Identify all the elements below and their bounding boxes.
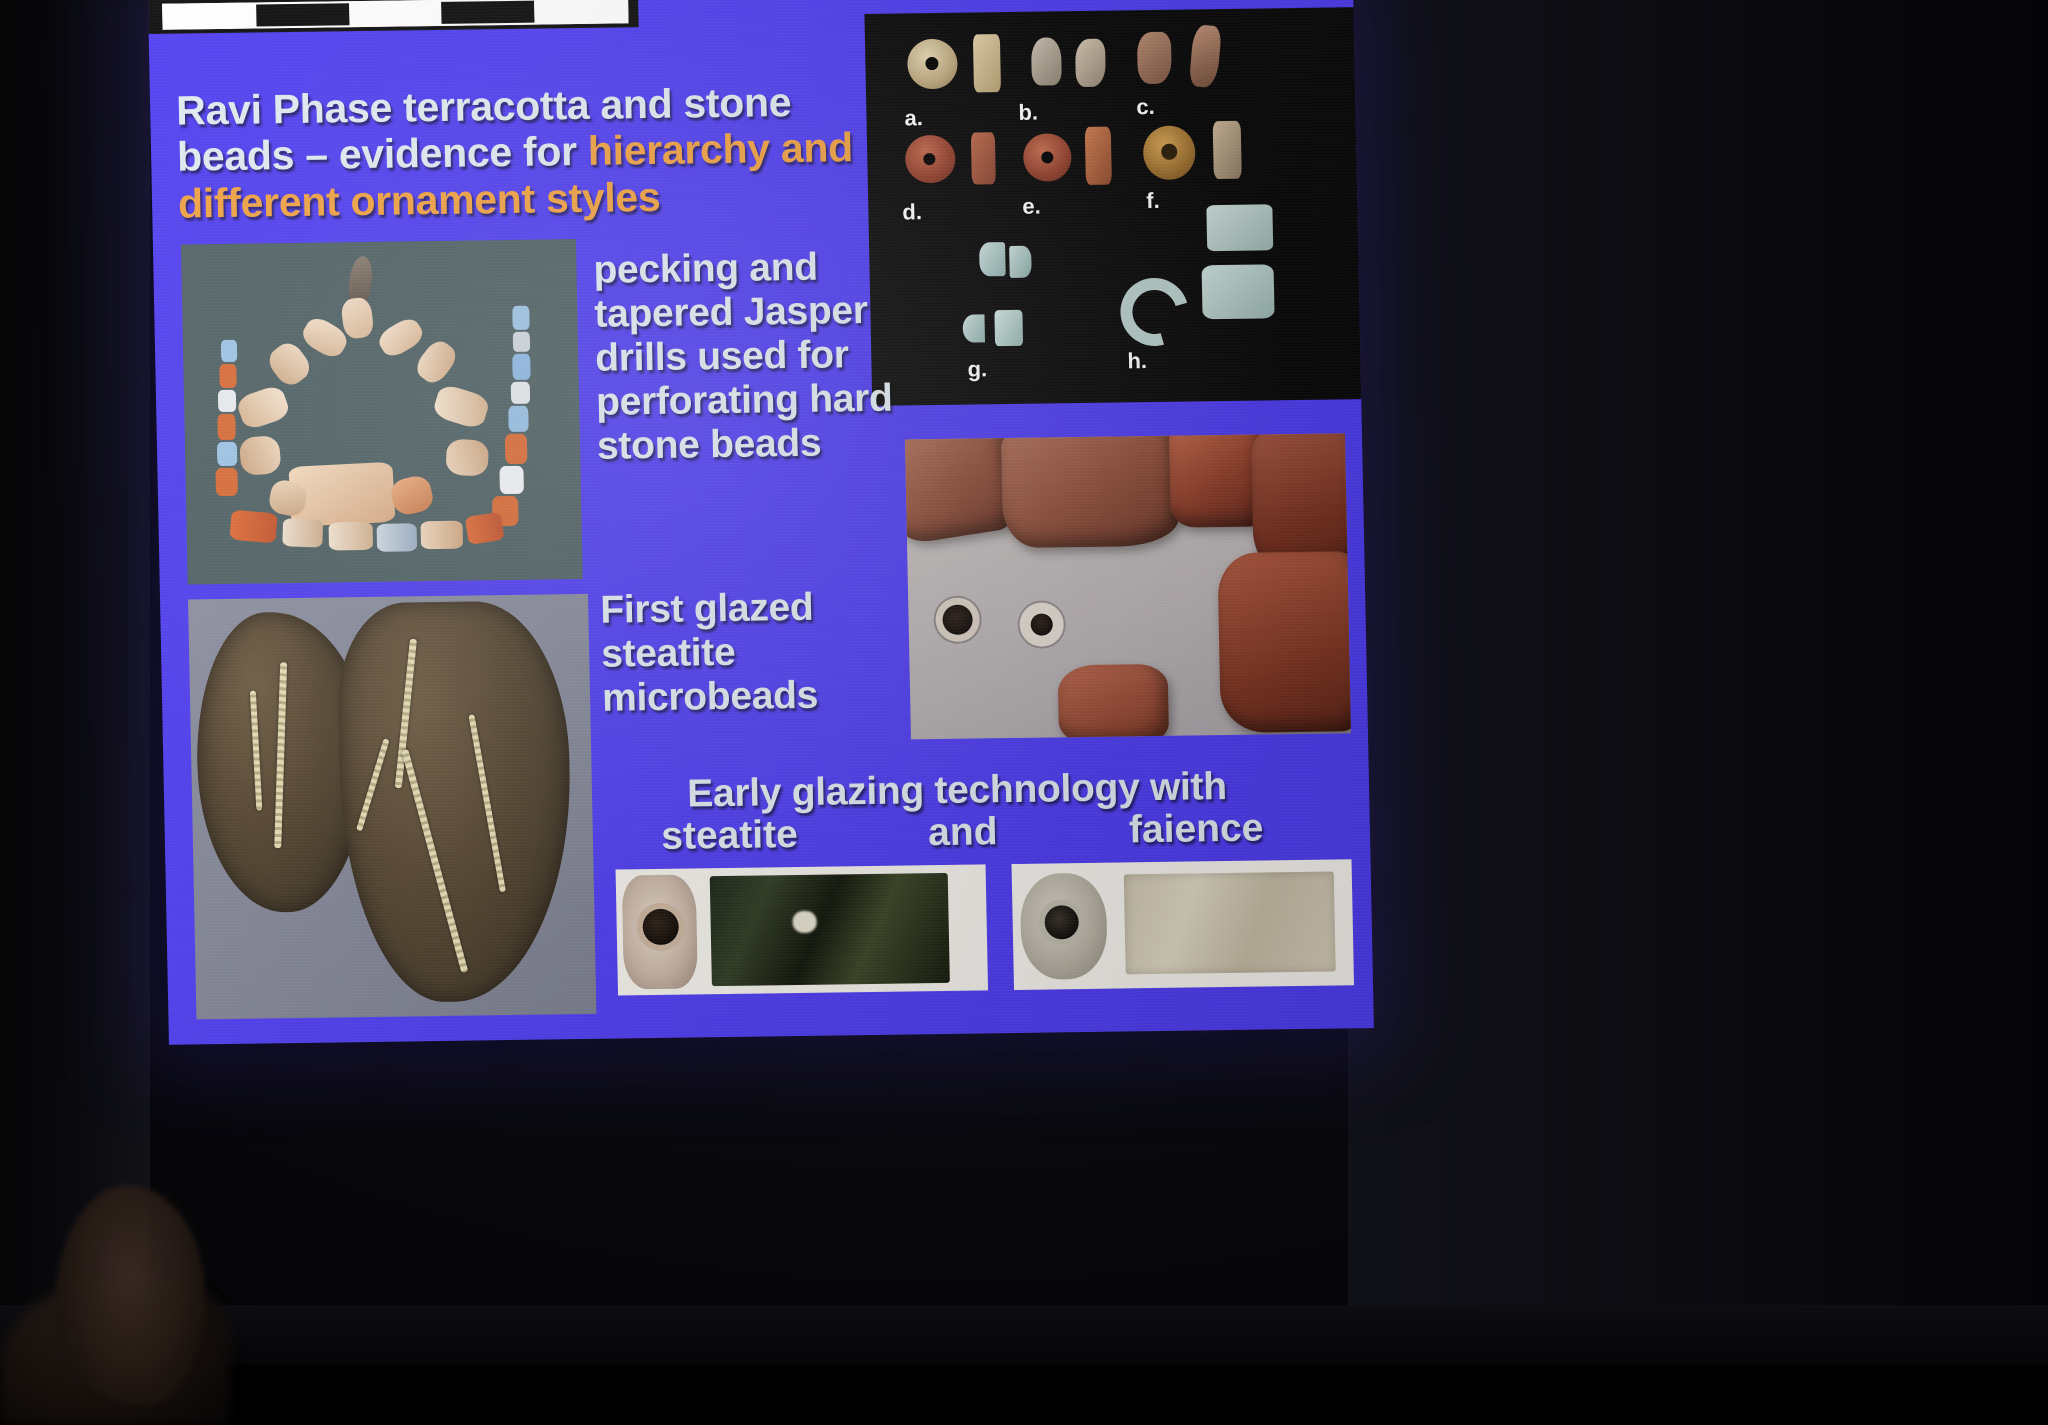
- bead-plate-photo: a. b. c. d. e. f. g. h.: [864, 7, 1362, 406]
- faience-bar-specimen: [1124, 872, 1336, 975]
- title-line-2-accent: hierarchy and: [587, 125, 853, 175]
- label-faience: faience: [1079, 806, 1313, 853]
- bead-label-d: d.: [902, 199, 922, 225]
- faience-specimen-box: [1012, 859, 1355, 990]
- middle-text-block-1: pecking and tapered Jasper drills used f…: [593, 245, 897, 469]
- glazed-steatite-bar-specimen: [710, 873, 950, 986]
- bottom-label-row: steatite and faience: [612, 806, 1313, 860]
- bead-label-e: e.: [1022, 194, 1041, 220]
- title-line-2-plain: beads – evidence for: [177, 128, 589, 180]
- slide-title: Ravi Phase terracotta and stone beads – …: [176, 78, 899, 227]
- title-line-3-accent: different ornament styles: [178, 174, 661, 227]
- title-line-1: Ravi Phase terracotta and stone: [176, 79, 792, 134]
- label-and: and: [846, 809, 1080, 856]
- bead-label-c: c.: [1136, 94, 1155, 120]
- right-wall-shadow: [1348, 0, 2048, 1365]
- floor-shadow: [0, 1305, 2048, 1365]
- bead-label-h: h.: [1127, 348, 1147, 374]
- bead-label-b: b.: [1018, 100, 1038, 126]
- necklace-photo: [181, 239, 583, 584]
- label-steatite: steatite: [612, 812, 846, 859]
- bead-label-g: g.: [967, 356, 987, 382]
- middle-text-block-2: First glazed steatite microbeads: [600, 585, 903, 721]
- bead-label-a: a.: [904, 105, 923, 131]
- bead-label-f: f.: [1146, 188, 1160, 214]
- projection-screen: Ravi Phase terracotta and stone beads – …: [148, 0, 1374, 1045]
- steatite-specimen-box: [616, 864, 988, 995]
- microbead-slab-photo: [188, 594, 596, 1020]
- scale-bar-inner: [162, 0, 628, 30]
- slide-surface: Ravi Phase terracotta and stone beads – …: [148, 0, 1374, 1045]
- audience-head-silhouette: [55, 1185, 205, 1405]
- left-wall-shadow: [0, 0, 150, 1365]
- scale-bar: [148, 0, 639, 34]
- glaze-highlight: [792, 911, 816, 933]
- jasper-drill-photo: [905, 433, 1351, 739]
